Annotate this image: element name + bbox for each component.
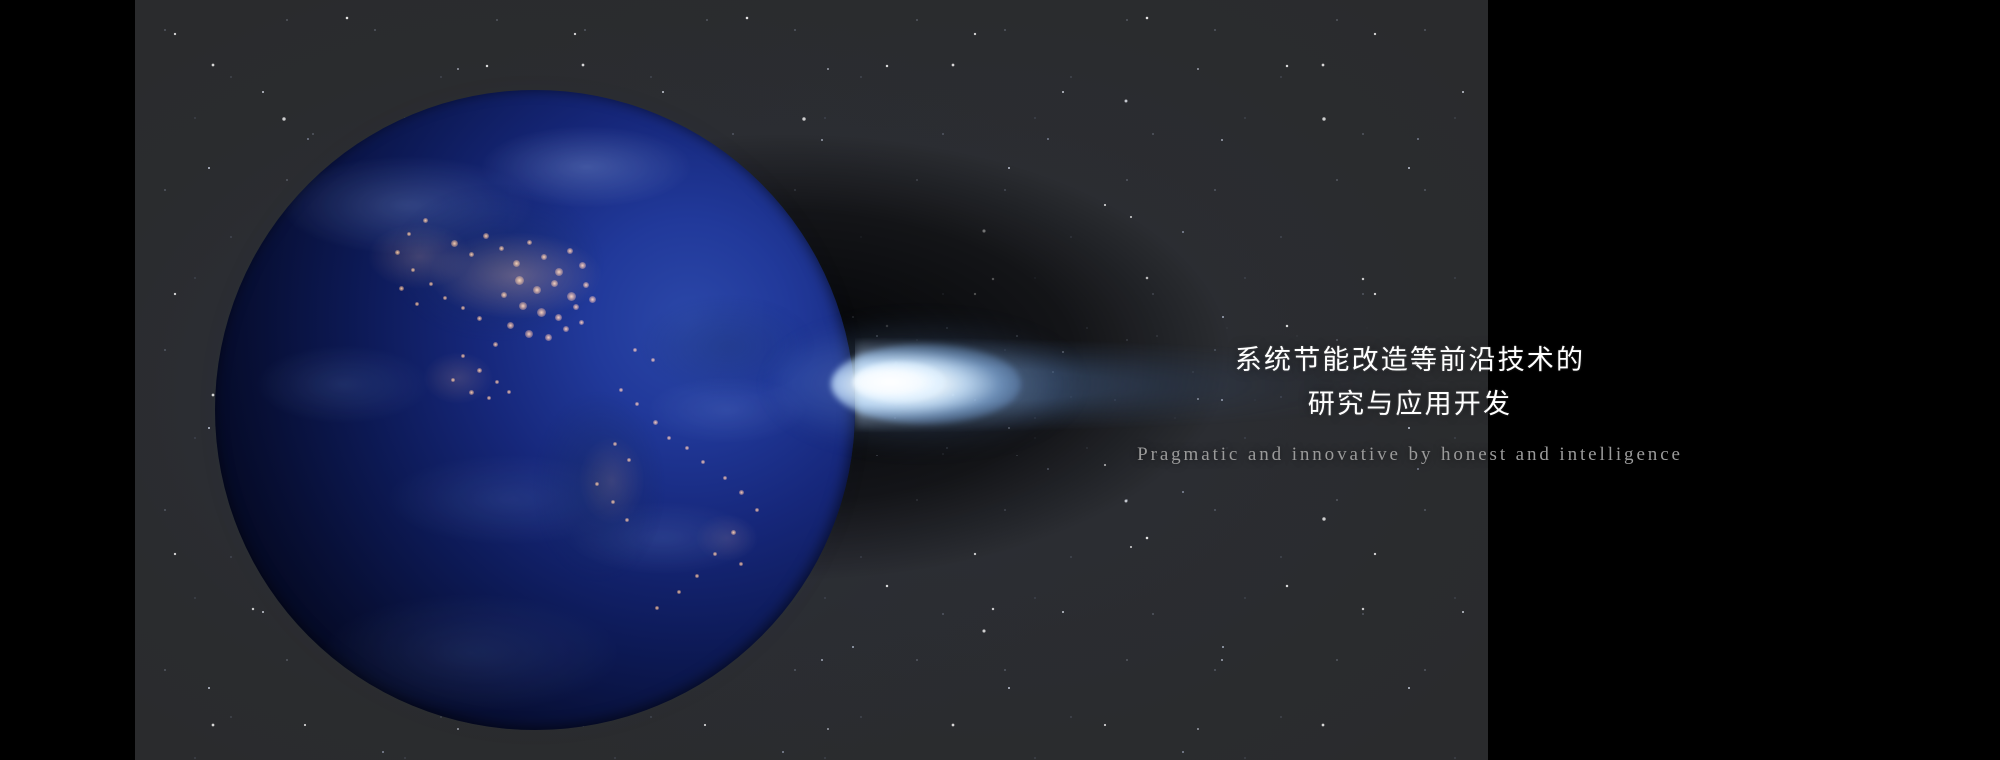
right-letterbox-band — [1488, 0, 2000, 760]
space-photograph — [135, 0, 1488, 760]
earth-globe — [215, 90, 855, 730]
left-letterbox-band — [0, 0, 135, 760]
atmosphere-bleed — [201, 76, 869, 744]
space-banner: 系统节能改造等前沿技术的 研究与应用开发 Pragmatic and innov… — [0, 0, 2000, 760]
